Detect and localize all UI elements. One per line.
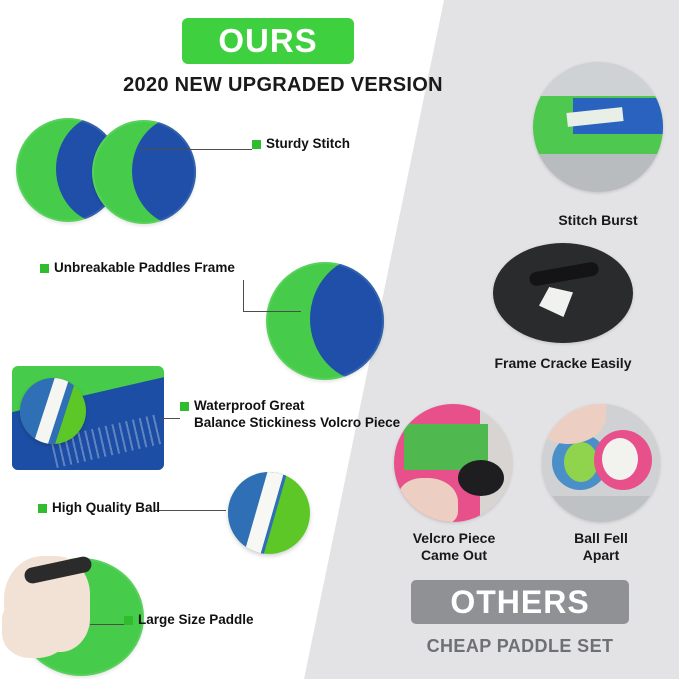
caption-stitch-burst: Stitch Burst	[518, 212, 678, 229]
leader-line-sturdy-stitch	[140, 149, 252, 150]
photo-ball-fell-apart	[542, 404, 660, 522]
leader-line-ball	[154, 510, 226, 511]
photo-frame-crack	[493, 243, 633, 343]
leader-line-velcro	[160, 418, 180, 419]
hand-fingers	[2, 596, 72, 658]
hand-thumb	[398, 478, 458, 522]
paddle-middle	[266, 262, 384, 380]
callout-label: High Quality Ball	[52, 500, 160, 517]
others-badge: OTHERS	[411, 580, 629, 624]
caption-ball-fell-apart: Ball Fell Apart	[525, 530, 677, 564]
caption-frame-crack: Frame Cracke Easily	[463, 355, 663, 372]
bullet-square-icon	[252, 140, 261, 149]
photo-velcro-came-out	[394, 404, 512, 522]
paddle-top-right	[92, 120, 196, 224]
velcro-black-disc	[458, 460, 504, 496]
bullet-square-icon	[124, 616, 133, 625]
callout-waterproof-velcro: Waterproof Great Balance Stickiness Volc…	[180, 398, 400, 432]
callout-label: Large Size Paddle	[138, 612, 254, 629]
ours-badge: OURS	[182, 18, 354, 64]
leader-line-frame-h	[243, 311, 301, 312]
ours-subtitle: 2020 NEW UPGRADED VERSION	[108, 74, 458, 97]
callout-label: Sturdy Stitch	[266, 136, 350, 153]
bullet-square-icon	[38, 504, 47, 513]
others-subtitle: CHEAP PADDLE SET	[395, 636, 645, 657]
callout-large-size-paddle: Large Size Paddle	[124, 612, 254, 629]
callout-sturdy-stitch: Sturdy Stitch	[252, 136, 350, 153]
leader-line-frame-v	[243, 280, 244, 312]
burst-shadow	[533, 154, 663, 192]
broken-ball-right-inner	[602, 438, 638, 480]
leader-line-large-paddle	[90, 624, 126, 625]
callout-high-quality-ball: High Quality Ball	[38, 500, 160, 517]
counter-edge	[542, 496, 660, 522]
caption-velcro-came-out: Velcro Piece Came Out	[375, 530, 533, 564]
callout-label: Unbreakable Paddles Frame	[54, 260, 235, 277]
paddle-rim	[266, 262, 384, 380]
hand-fingers-right	[542, 404, 606, 444]
callout-unbreakable-frame: Unbreakable Paddles Frame	[40, 260, 235, 277]
others-badge-label: OTHERS	[450, 584, 589, 621]
cracked-frame-strap	[528, 261, 599, 287]
ball-on-velcro	[20, 378, 86, 444]
crack-white	[539, 287, 573, 317]
ball-high-quality	[228, 472, 310, 554]
paddle-rim	[92, 120, 196, 224]
broken-ball-left-inner	[564, 442, 598, 482]
photo-stitch-burst	[533, 62, 663, 192]
bullet-square-icon	[40, 264, 49, 273]
callout-label: Waterproof Great Balance Stickiness Volc…	[194, 398, 400, 432]
product-comparison-image: OURS 2020 NEW UPGRADED VERSION Sturdy St…	[0, 0, 679, 679]
bullet-square-icon	[180, 402, 189, 411]
ours-badge-label: OURS	[218, 22, 317, 60]
